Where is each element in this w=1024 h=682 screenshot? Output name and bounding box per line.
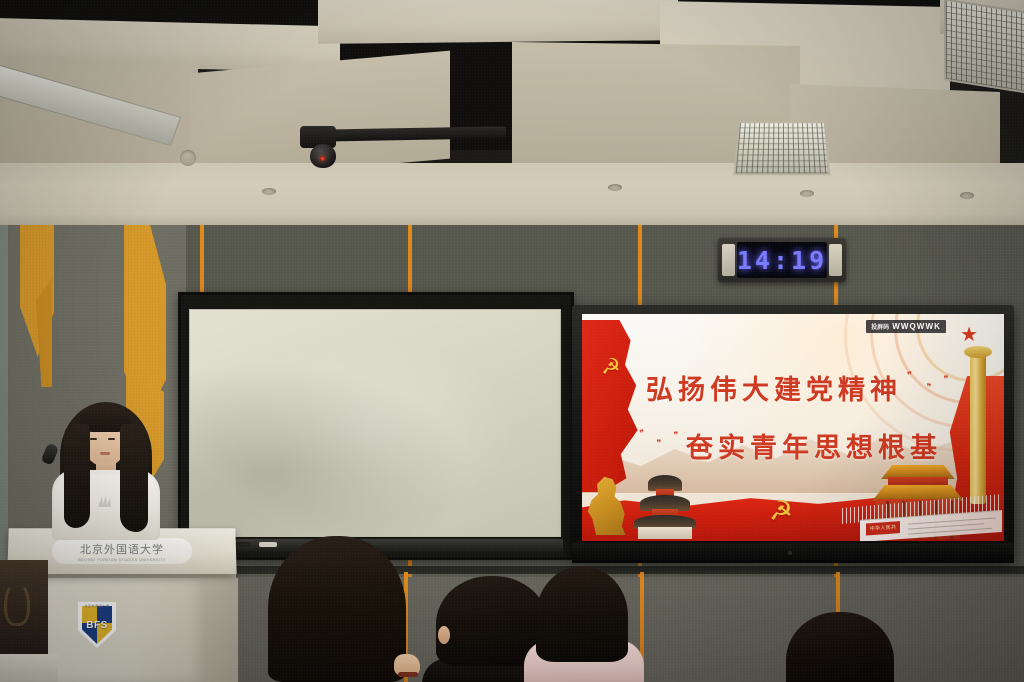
bird-icon-7: ❞: [944, 376, 950, 385]
crest-arc-text: 北京外国语大学: [78, 604, 116, 608]
ceiling-grid-light-center: [733, 121, 830, 175]
bird-icon-2: ❞: [656, 440, 662, 449]
temple-platform: [638, 527, 692, 539]
bird-icon-3: ❞: [673, 432, 679, 442]
wall-left-trim: [0, 225, 8, 575]
watermark-code: WWQWWK: [892, 322, 941, 331]
projection-whiteboard[interactable]: [178, 292, 574, 560]
presenter-shirt-logo-icon: [96, 494, 112, 508]
clock-endcap-right: [829, 244, 842, 276]
audience-1-wristband: [398, 672, 418, 677]
audience-3-hair: [536, 566, 628, 662]
presenter-hair-strand-left: [64, 424, 90, 528]
presenter-mouth: [100, 452, 110, 455]
party-emblem-ribbon-icon: ☭: [764, 497, 798, 527]
clock-display: 14:19: [737, 242, 827, 278]
ceiling-downlight-4: [800, 190, 814, 197]
cable-loop-icon: [4, 582, 30, 626]
audience-member-1: [268, 536, 406, 682]
presenter-hair-strand-right: [120, 424, 148, 532]
red-star-icon: ★: [960, 324, 978, 344]
podium-body: [46, 578, 204, 682]
presenter-at-podium: [42, 398, 168, 538]
podium-side-panel: [204, 578, 238, 682]
camera-indicator-led-icon: [320, 156, 325, 161]
whiteboard-surface[interactable]: [189, 309, 561, 537]
crest-shield: BFS: [82, 606, 112, 644]
audience-member-3: [530, 566, 634, 682]
banner-red-badge: 中华人民共: [866, 521, 900, 535]
podium-nameplate-english: BEIJING FOREIGN STUDIES UNIVERSITY: [78, 557, 166, 561]
hammer-sickle-icon: ☭: [598, 356, 624, 380]
display-bezel-bottom: [572, 543, 1014, 563]
audience-1-hair: [268, 536, 406, 682]
clock-time-value: 14:19: [737, 246, 827, 275]
slide-headline-line-2: 夿实青年思想根基: [686, 426, 942, 465]
watermark-cjk-label: 投屏码: [871, 322, 889, 331]
clock-endcap-left: [722, 244, 735, 276]
wall-digital-clock: 14:19: [718, 238, 846, 282]
audience-2-ear: [438, 626, 450, 644]
podium-nameplate-chinese: 北京外国语大学: [80, 541, 164, 557]
huabiao-capital: [964, 346, 992, 358]
ceiling-grid-light-right: [944, 0, 1024, 96]
ceiling-downlight-2: [262, 188, 276, 195]
slide-watermark: 投屏码 WWQWWK: [866, 320, 946, 333]
led-display-screen[interactable]: ☭ ❞ ❞ ❞ ❞ ❞ ❞ ❞ 弘扬伟大建党精神 夿实青年思想根基 ★ 投屏码 …: [572, 305, 1014, 563]
audience-member-4: [786, 612, 894, 682]
lecture-hall-photo: 14:19 ☭ ❞ ❞ ❞ ❞ ❞ ❞ ❞ 弘扬伟大建党精神: [0, 0, 1024, 682]
ceiling-downlight-5: [960, 192, 974, 199]
banner-line-3: [908, 528, 992, 535]
foreground-white-surface: [0, 654, 58, 682]
slide-content: ☭ ❞ ❞ ❞ ❞ ❞ ❞ ❞ 弘扬伟大建党精神 夿实青年思想根基 ★ 投屏码 …: [582, 314, 1004, 541]
ceiling-plane: [0, 163, 1024, 215]
bird-icon-6: ❞: [925, 384, 931, 394]
wall-top-band: [0, 213, 1024, 225]
ceiling: [0, 0, 1024, 215]
ceiling-downlight-1: [180, 150, 196, 166]
podium-nameplate: 北京外国语大学 BEIJING FOREIGN STUDIES UNIVERSI…: [52, 538, 192, 564]
crest-initials: BFS: [86, 620, 108, 631]
banner-badge-text: 中华人民共: [866, 521, 900, 535]
huabiao-column-graphic: [970, 354, 986, 504]
audience-4-head: [786, 612, 894, 682]
display-power-led-icon: [788, 551, 792, 555]
temple-of-heaven-graphic: [634, 475, 696, 539]
ceiling-downlight-3: [608, 184, 622, 191]
ceiling-panel-center-upper: [318, 0, 678, 44]
slide-headline-line-1: 弘扬伟大建党精神: [646, 368, 902, 407]
